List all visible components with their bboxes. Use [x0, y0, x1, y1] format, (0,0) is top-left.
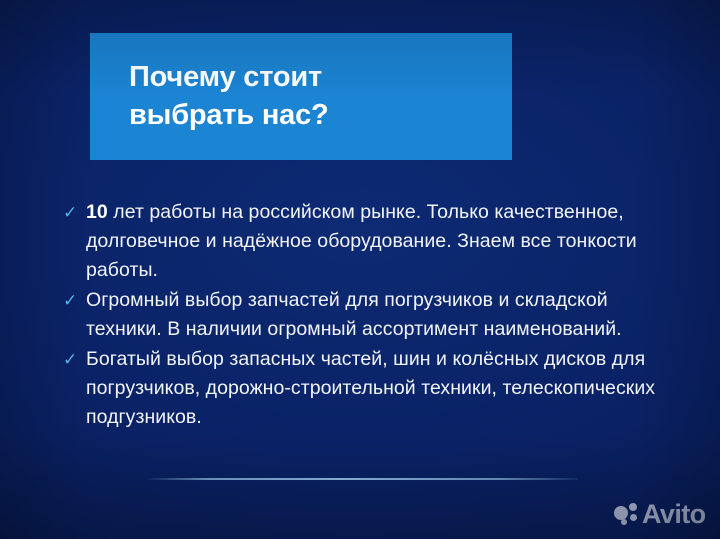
list-item: ✓ Огромный выбор запчастей для погрузчик…	[62, 286, 677, 344]
avito-logo-icon	[613, 500, 643, 528]
list-item-body: Богатый выбор запасных частей, шин и кол…	[86, 348, 655, 428]
list-item-text: 10 лет работы на российском рынке. Тольк…	[86, 198, 677, 285]
slide-canvas: Почему стоит выбрать нас? ✓ 10 лет работ…	[0, 0, 720, 539]
avito-wordmark: Avito	[642, 500, 706, 528]
list-item-text: Огромный выбор запчастей для погрузчиков…	[86, 286, 677, 344]
divider	[148, 478, 578, 480]
list-item: ✓ Богатый выбор запасных частей, шин и к…	[62, 345, 677, 432]
list-item-lead: 10	[86, 201, 108, 223]
list-item-body: Огромный выбор запчастей для погрузчиков…	[86, 289, 622, 340]
check-icon: ✓	[62, 345, 86, 374]
benefits-list: ✓ 10 лет работы на российском рынке. Тол…	[62, 198, 677, 433]
page-title: Почему стоит выбрать нас?	[129, 58, 502, 134]
title-block: Почему стоит выбрать нас?	[90, 33, 512, 160]
check-icon: ✓	[62, 286, 86, 315]
list-item-text: Богатый выбор запасных частей, шин и кол…	[86, 345, 677, 432]
check-icon: ✓	[62, 198, 86, 227]
avito-watermark: Avito	[613, 500, 706, 528]
list-item: ✓ 10 лет работы на российском рынке. Тол…	[62, 198, 677, 285]
list-item-body: лет работы на российском рынке. Только к…	[86, 201, 637, 281]
